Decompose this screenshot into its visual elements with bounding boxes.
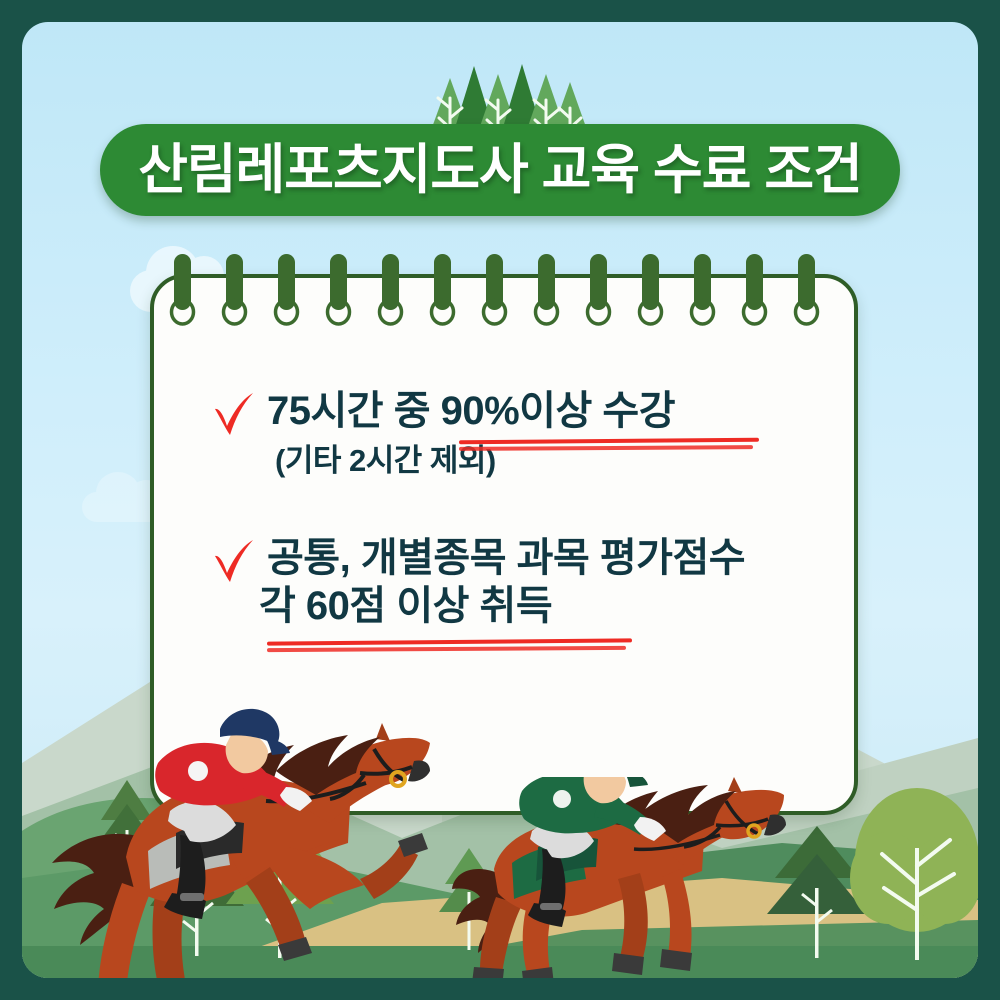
list-item-text: 공통, 개별종목 과목 평가점수 각 60점 이상 취득 <box>212 534 852 632</box>
list-item: 75시간 중 90%이상 수강 (기타 2시간 제외) <box>212 387 852 482</box>
title-banner: 산림레포츠지도사 교육 수료 조건 <box>100 124 900 216</box>
conditions-list: 75시간 중 90%이상 수강 (기타 2시간 제외) 공통, 개별종목 과목 … <box>212 387 852 631</box>
list-item: 공통, 개별종목 과목 평가점수 각 60점 이상 취득 <box>212 534 852 632</box>
condition-line: 75시간 중 90%이상 수강 <box>267 387 852 436</box>
list-item-text: 75시간 중 90%이상 수강 (기타 2시간 제외) <box>212 387 852 482</box>
condition-note: (기타 2시간 제외) <box>275 440 852 482</box>
page-title: 산림레포츠지도사 교육 수료 조건 <box>138 143 862 197</box>
red-check-icon <box>211 539 257 585</box>
horse-rider-left-illustration <box>30 687 430 978</box>
condition-line: 공통, 개별종목 과목 평가점수 <box>267 534 852 583</box>
horse-rider-right-illustration <box>452 777 812 978</box>
poster-root: 산림레포츠지도사 교육 수료 조건 <box>0 0 1000 1000</box>
scene: 산림레포츠지도사 교육 수료 조건 <box>22 22 978 978</box>
condition-line: 각 60점 이상 취득 <box>259 582 852 631</box>
red-check-icon <box>211 392 257 438</box>
